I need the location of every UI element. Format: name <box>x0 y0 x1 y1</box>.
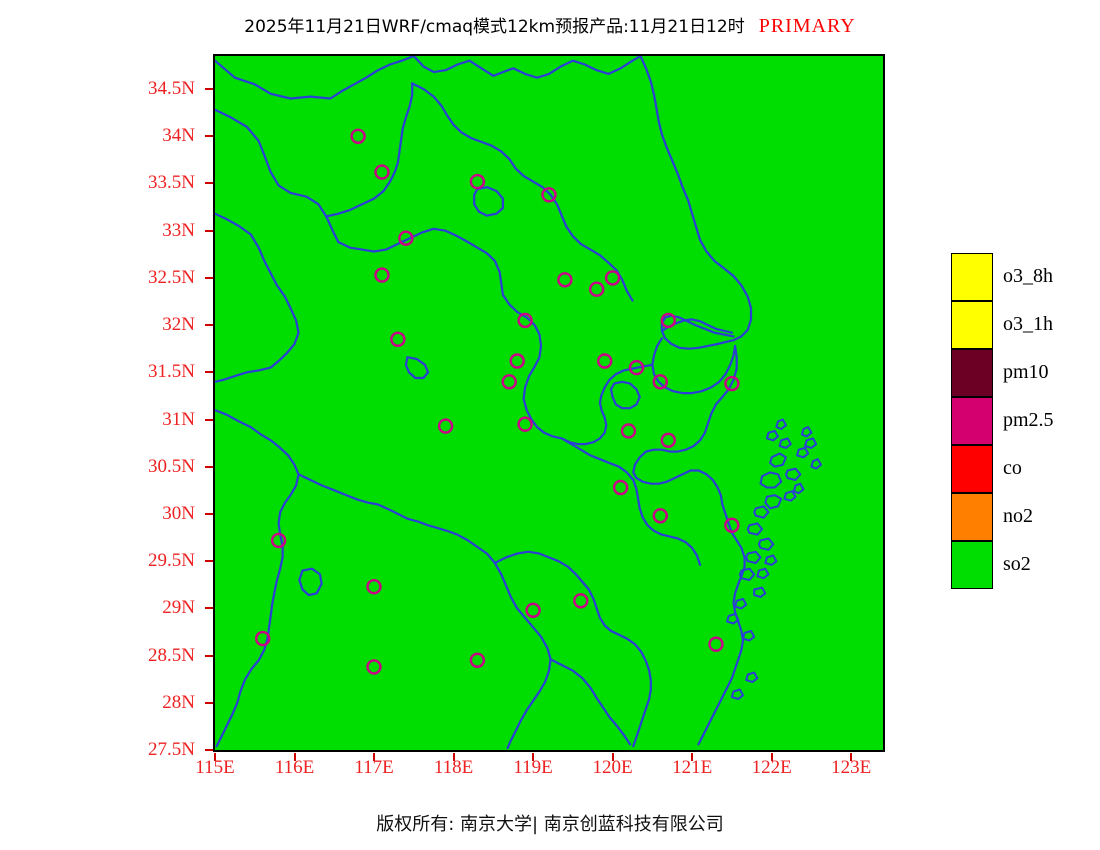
boundary-line <box>215 214 299 382</box>
station-marker[interactable] <box>503 375 516 388</box>
y-axis-tick <box>205 371 213 373</box>
x-axis-tick <box>691 753 693 761</box>
legend-label: co <box>1003 457 1022 480</box>
station-markers <box>256 130 738 674</box>
island-outline <box>765 495 781 508</box>
legend-color-swatch <box>951 493 993 541</box>
y-axis-tick-label: 31N <box>0 410 203 429</box>
station-marker[interactable] <box>574 594 587 607</box>
island-outline <box>776 420 786 430</box>
island-outline <box>805 438 816 448</box>
boundary-line <box>474 187 503 215</box>
island-outline <box>748 523 762 534</box>
station-marker[interactable] <box>471 654 484 667</box>
y-axis-tick-label: 28.5N <box>0 646 203 665</box>
legend-label: so2 <box>1003 553 1031 576</box>
island-outline <box>811 459 821 468</box>
station-marker[interactable] <box>558 273 571 286</box>
island-outline <box>784 491 795 500</box>
forecast-map-page: 2025年11月21日WRF/cmaq模式12km预报产品:11月21日12时P… <box>0 0 1100 850</box>
station-marker[interactable] <box>352 130 365 143</box>
legend-row[interactable]: co <box>951 445 1096 493</box>
boundary-line <box>611 382 640 408</box>
legend-label: pm2.5 <box>1003 409 1054 432</box>
y-axis-tick-label: 34N <box>0 126 203 145</box>
y-axis-labels: 34.5N34N33.5N33N32.5N32N31.5N31N30.5N30N… <box>0 0 203 850</box>
station-marker[interactable] <box>511 355 524 368</box>
y-axis-tick <box>205 702 213 704</box>
legend-row[interactable]: o3_1h <box>951 301 1096 349</box>
island-outline <box>761 472 782 487</box>
x-axis-tick <box>294 753 296 761</box>
legend-color-swatch <box>951 397 993 445</box>
station-marker[interactable] <box>376 166 389 179</box>
legend-row[interactable]: o3_8h <box>951 253 1096 301</box>
station-marker[interactable] <box>622 424 635 437</box>
legend-color-swatch <box>951 349 993 397</box>
island-outline <box>754 588 765 597</box>
y-axis-tick <box>205 466 213 468</box>
boundary-line <box>633 346 736 505</box>
boundary-line <box>412 83 632 300</box>
y-axis-tick <box>205 324 213 326</box>
y-axis-tick <box>205 607 213 609</box>
x-axis-tick <box>532 753 534 761</box>
station-marker[interactable] <box>590 283 603 296</box>
x-axis-tick <box>612 753 614 761</box>
y-axis-tick <box>205 277 213 279</box>
station-marker[interactable] <box>598 355 611 368</box>
boundary-line <box>406 357 428 378</box>
station-marker[interactable] <box>391 333 404 346</box>
boundary-line <box>495 552 651 747</box>
island-outline <box>759 539 773 550</box>
y-axis-tick-label: 30.5N <box>0 457 203 476</box>
boundary-line <box>495 563 551 748</box>
y-axis-tick-label: 33.5N <box>0 173 203 192</box>
island-outline <box>786 469 800 480</box>
copyright-footer: 版权所有: 南京大学| 南京创蓝科技有限公司 <box>0 810 1100 836</box>
y-axis-tick <box>205 88 213 90</box>
y-axis-tick <box>205 655 213 657</box>
x-axis-tick <box>373 753 375 761</box>
island-outline <box>770 454 786 467</box>
legend-row[interactable]: pm2.5 <box>951 397 1096 445</box>
island-outline <box>735 599 746 609</box>
y-axis-tick-label: 32.5N <box>0 268 203 287</box>
island-outline <box>802 427 812 436</box>
station-marker[interactable] <box>614 481 627 494</box>
station-marker[interactable] <box>710 638 723 651</box>
y-axis-tick <box>205 560 213 562</box>
station-marker[interactable] <box>368 580 381 593</box>
boundary-line <box>641 56 752 344</box>
legend-label: o3_8h <box>1003 265 1053 288</box>
boundary-line <box>414 56 641 78</box>
boundary-line <box>551 659 631 744</box>
boundary-line <box>215 56 414 99</box>
y-axis-tick-label: 28N <box>0 693 203 712</box>
map-canvas[interactable] <box>213 54 885 752</box>
y-axis-tick-label: 31.5N <box>0 362 203 381</box>
station-marker[interactable] <box>368 660 381 673</box>
island-outline <box>732 690 743 699</box>
x-axis-tick <box>453 753 455 761</box>
y-axis-tick-label: 29.5N <box>0 551 203 570</box>
island-outline <box>727 614 738 624</box>
y-axis-tick-label: 32N <box>0 315 203 334</box>
y-axis-tick-label: 34.5N <box>0 79 203 98</box>
page-title-main: 2025年11月21日WRF/cmaq模式12km预报产品:11月21日12时 <box>244 17 744 37</box>
legend-row[interactable]: so2 <box>951 541 1096 589</box>
boundary-line <box>699 505 745 745</box>
station-marker[interactable] <box>471 175 484 188</box>
boundary-line <box>299 569 321 595</box>
station-marker[interactable] <box>272 534 285 547</box>
island-outline <box>767 431 778 440</box>
island-outline <box>780 438 791 448</box>
y-axis-tick <box>205 749 213 751</box>
legend-row[interactable]: pm10 <box>951 349 1096 397</box>
station-marker[interactable] <box>606 271 619 284</box>
station-marker[interactable] <box>654 509 667 522</box>
x-axis-tick <box>214 753 216 761</box>
station-marker[interactable] <box>519 418 532 431</box>
station-marker[interactable] <box>439 420 452 433</box>
station-marker[interactable] <box>543 188 556 201</box>
y-axis-tick <box>205 182 213 184</box>
page-title-primary: PRIMARY <box>759 15 856 37</box>
boundary-line <box>299 474 495 563</box>
x-axis-tick <box>771 753 773 761</box>
legend-color-swatch <box>951 541 993 589</box>
boundary-line <box>215 410 299 746</box>
legend-color-swatch <box>951 301 993 349</box>
y-axis-tick <box>205 230 213 232</box>
station-marker[interactable] <box>527 604 540 617</box>
legend-label: pm10 <box>1003 361 1049 384</box>
boundary-line <box>562 438 700 565</box>
y-axis-tick <box>205 135 213 137</box>
island-outline <box>797 448 808 457</box>
y-axis-tick <box>205 419 213 421</box>
pollutant-legend: o3_8ho3_1hpm10pm2.5cono2so2 <box>951 253 1096 589</box>
y-axis-tick <box>205 513 213 515</box>
island-outline <box>794 484 804 494</box>
boundary-line <box>562 365 653 444</box>
x-axis-tick <box>850 753 852 761</box>
legend-color-swatch <box>951 445 993 493</box>
legend-color-swatch <box>951 253 993 301</box>
legend-label: o3_1h <box>1003 313 1053 336</box>
legend-label: no2 <box>1003 505 1033 528</box>
island-outline <box>746 552 760 563</box>
island-outline <box>757 569 768 579</box>
island-outline <box>754 506 768 517</box>
station-marker[interactable] <box>376 269 389 282</box>
island-outline <box>743 631 754 641</box>
y-axis-tick-label: 27.5N <box>0 740 203 759</box>
map-vector-layer <box>215 56 883 750</box>
legend-row[interactable]: no2 <box>951 493 1096 541</box>
y-axis-tick-label: 33N <box>0 221 203 240</box>
boundary-line <box>326 83 412 216</box>
island-outline <box>765 556 776 565</box>
boundary-line <box>215 110 374 252</box>
y-axis-tick-label: 29N <box>0 598 203 617</box>
island-outline <box>746 673 757 682</box>
y-axis-tick-label: 30N <box>0 504 203 523</box>
station-marker[interactable] <box>662 434 675 447</box>
